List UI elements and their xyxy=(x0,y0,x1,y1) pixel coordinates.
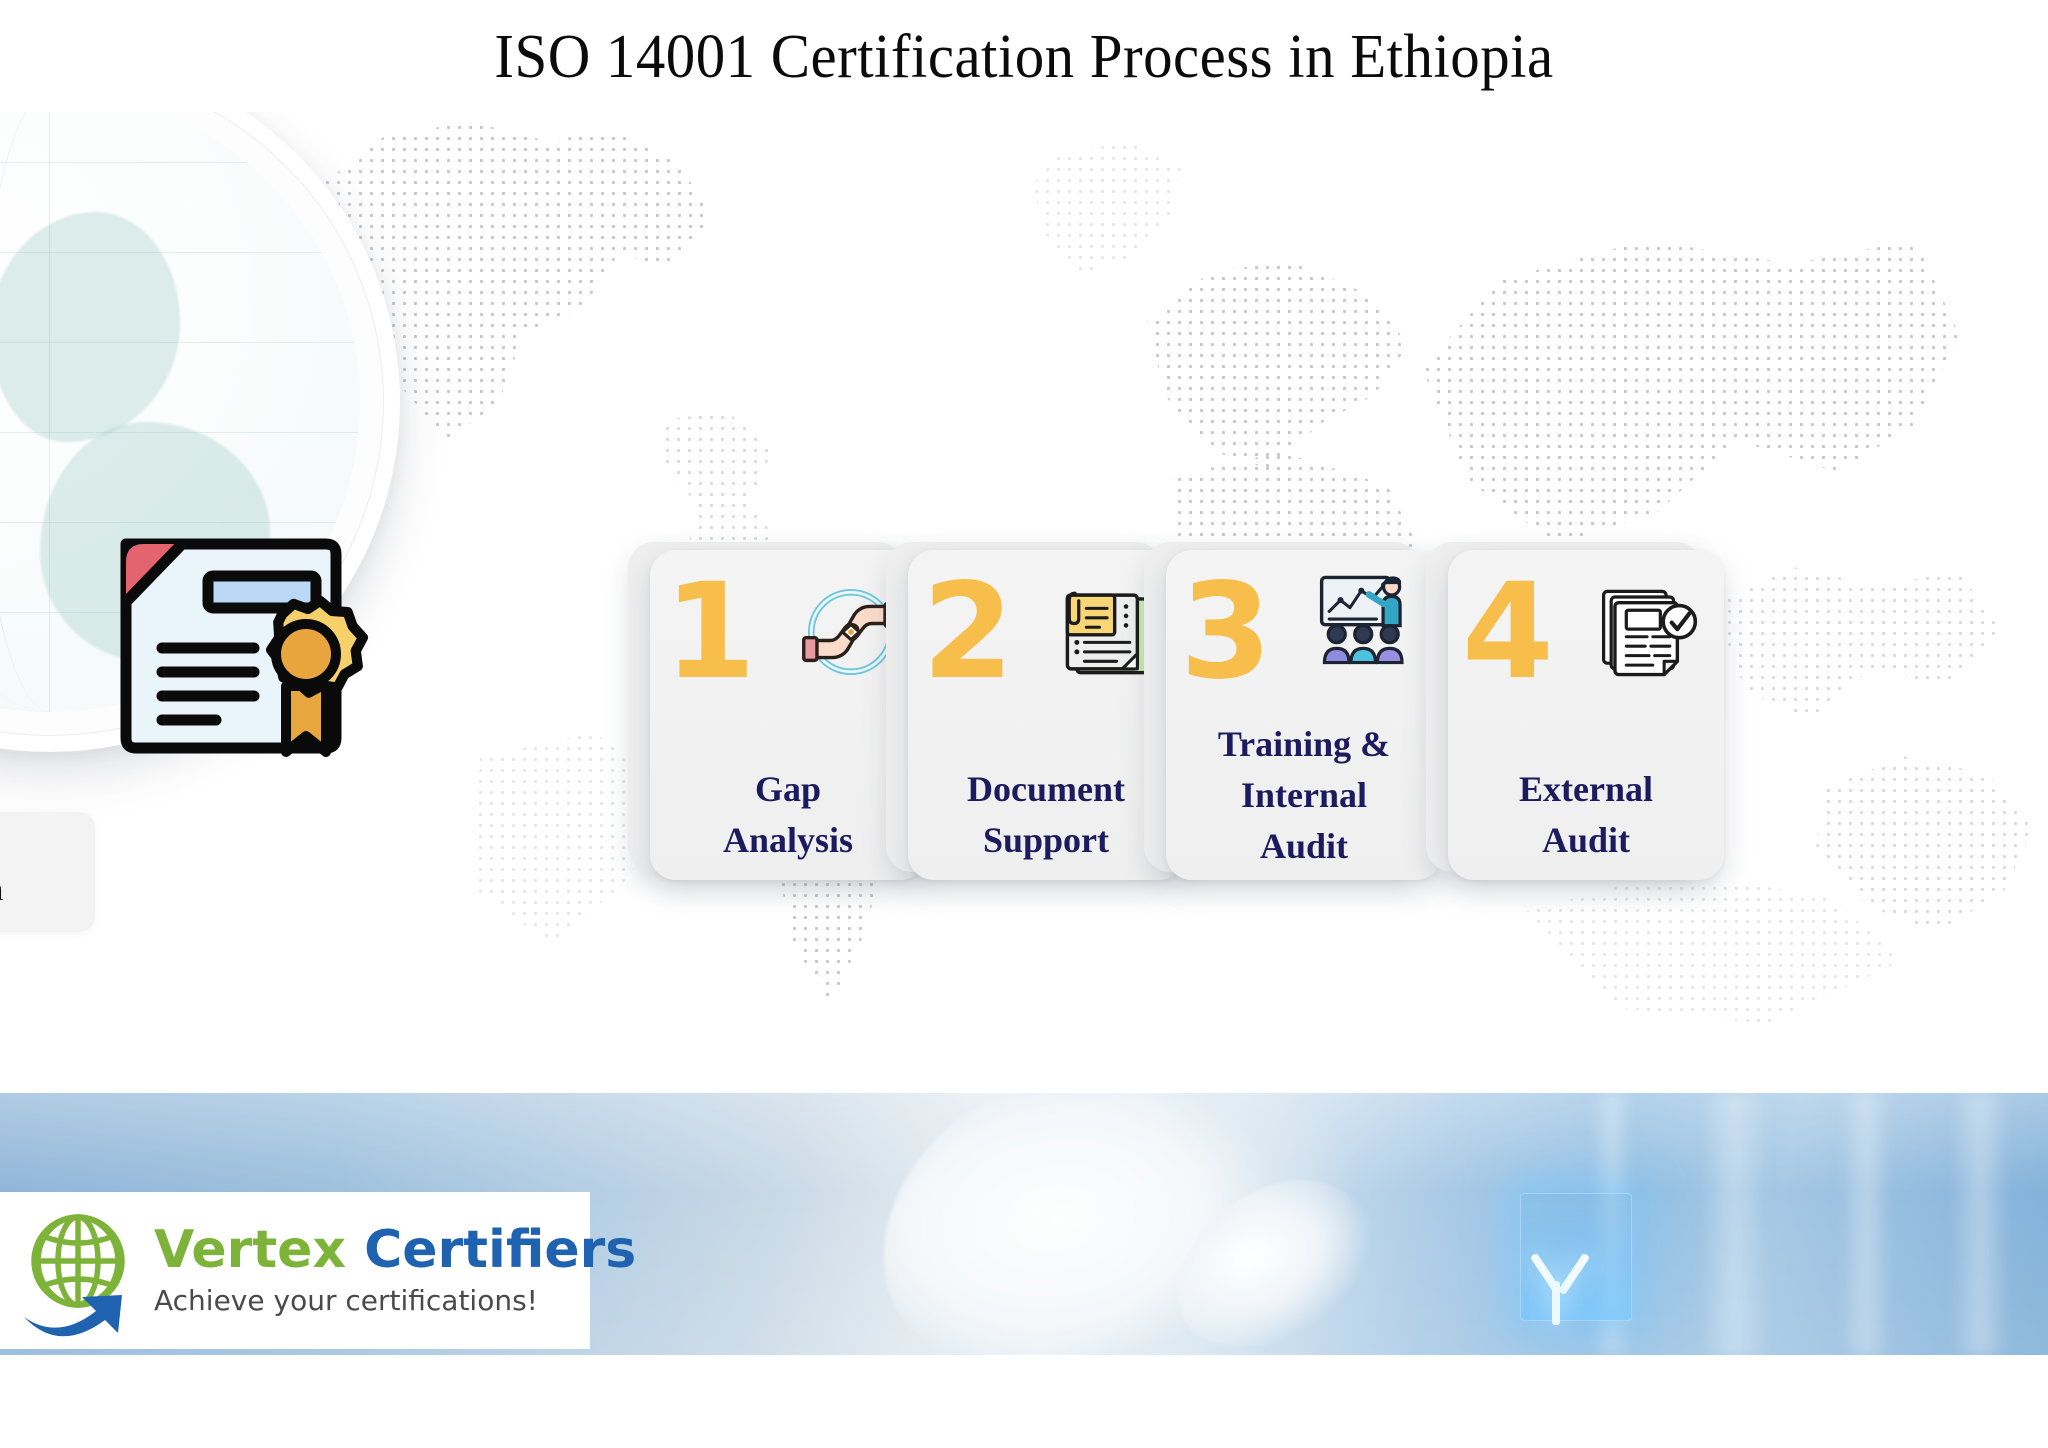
map-region-greenland xyxy=(1020,142,1195,292)
certificate-document-with-seal-icon xyxy=(90,502,380,792)
logo-wordmark: Vertex Certifiers xyxy=(154,1224,636,1276)
logo-tagline: Achieve your certifications! xyxy=(154,1284,636,1317)
upward-arrow-stem xyxy=(1552,1281,1560,1325)
step-1-caption-line-1: Gap xyxy=(656,764,920,815)
step-1-number: 1 xyxy=(664,566,752,698)
step-3-caption-line-2: Internal xyxy=(1172,770,1436,821)
logo-word-vertex: Vertex xyxy=(154,1220,346,1280)
documents-checkmark-icon xyxy=(1592,580,1706,684)
page-title: ISO 14001 Certification Process in Ethio… xyxy=(51,22,1997,93)
step-1-caption: Gap Analysis xyxy=(656,764,920,866)
step-3-caption-line-3: Audit xyxy=(1172,821,1436,872)
brand-logo-plate[interactable]: Vertex Certifiers Achieve your certifica… xyxy=(0,1192,590,1349)
iso-label-line-1: ISO xyxy=(0,826,85,869)
logo-word-certifiers: Certifiers xyxy=(364,1220,636,1280)
step-card-4[interactable]: 4 xyxy=(1448,550,1724,880)
iso-certification-label: ISO Certification xyxy=(0,812,95,932)
step-2-caption-line-2: Support xyxy=(914,815,1178,866)
step-2-caption: Document Support xyxy=(914,764,1178,866)
vertex-globe-arrow-logo-icon xyxy=(16,1205,148,1337)
step-3-number: 3 xyxy=(1180,566,1268,698)
banner-streak xyxy=(1700,1093,1770,1355)
step-card-1[interactable]: 1 xyxy=(650,550,926,880)
globe-meridian xyxy=(49,112,52,712)
step-2-number: 2 xyxy=(922,566,1010,698)
globe-latitude xyxy=(0,432,360,433)
hero-section: ISO Certification 1 xyxy=(0,112,2048,1093)
step-3-caption-line-1: Training & xyxy=(1172,719,1436,770)
process-steps: 1 xyxy=(628,550,2028,910)
step-2-caption-line-1: Document xyxy=(914,764,1178,815)
step-1-caption-line-2: Analysis xyxy=(656,815,920,866)
banner-streak xyxy=(1840,1093,1892,1355)
globe-latitude xyxy=(0,252,360,253)
logo-text-block: Vertex Certifiers Achieve your certifica… xyxy=(154,1224,636,1317)
iso-label-line-2: Certification xyxy=(0,869,85,912)
infographic-canvas: ISO 14001 Certification Process in Ethio… xyxy=(0,0,2048,1448)
footer-strip xyxy=(0,1355,2048,1448)
step-4-caption: External Audit xyxy=(1454,764,1718,866)
step-card-3[interactable]: 3 xyxy=(1166,550,1442,880)
step-3-caption: Training & Internal Audit xyxy=(1172,719,1436,872)
training-presentation-icon xyxy=(1310,568,1424,672)
globe-latitude xyxy=(0,342,360,343)
step-4-caption-line-1: External xyxy=(1454,764,1718,815)
step-4-caption-line-2: Audit xyxy=(1454,815,1718,866)
globe-latitude xyxy=(0,162,360,163)
step-card-2[interactable]: 2 xyxy=(908,550,1184,880)
step-4-number: 4 xyxy=(1462,566,1550,698)
upward-arrow-glow-icon xyxy=(1534,1245,1592,1303)
globe-emblem: ISO Certification xyxy=(0,112,400,752)
banner-streak xyxy=(1950,1093,2010,1355)
